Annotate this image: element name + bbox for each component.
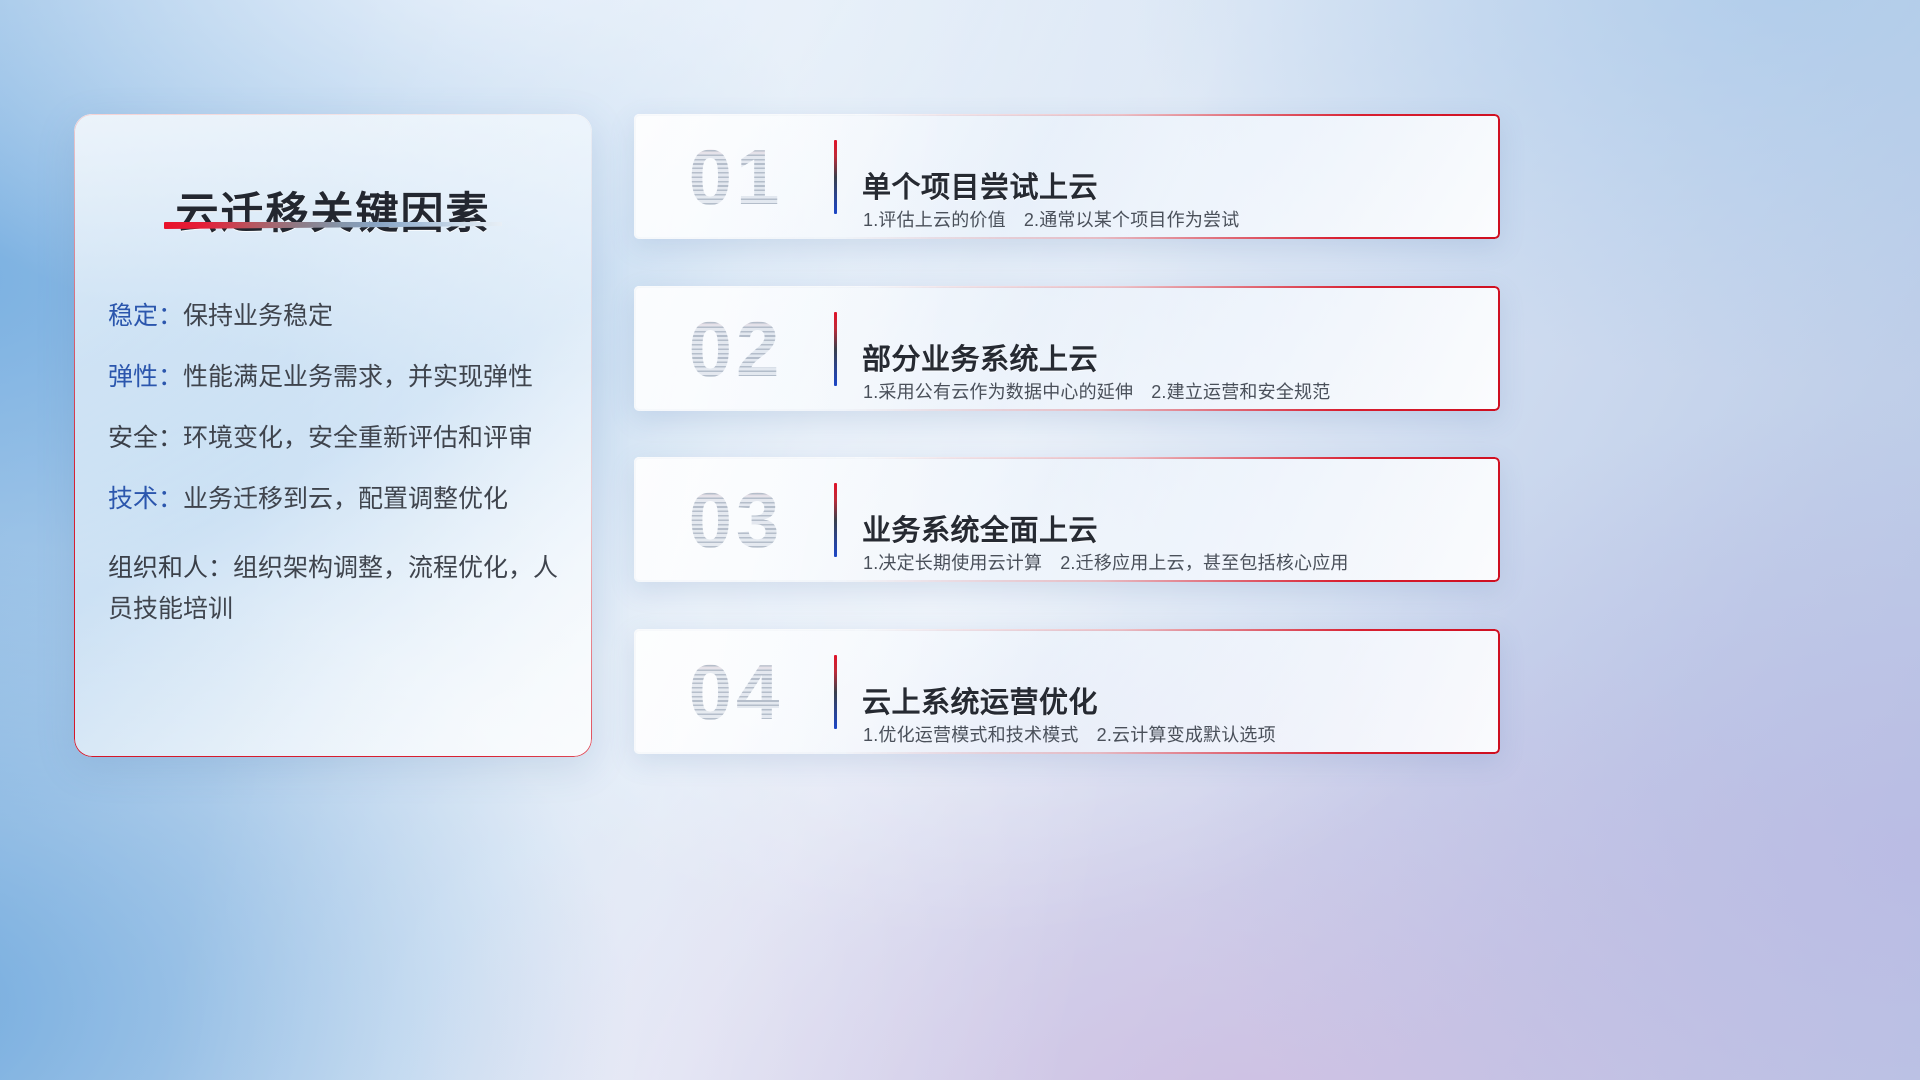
card-divider [834,312,837,386]
stage-description: 1.评估上云的价值2.通常以某个项目作为尝试 [863,206,1239,232]
factor-label: 弹性： [108,363,183,391]
stage-desc-item-2: 2.迁移应用上云，甚至包括核心应用 [1060,553,1348,573]
stage-description: 1.采用公有云作为数据中心的延伸2.建立运营和安全规范 [863,378,1330,404]
stage-description: 1.优化运营模式和技术模式2.云计算变成默认选项 [863,721,1276,747]
factor-label: 安全： [108,424,183,452]
stage-number: 01 [656,128,816,226]
card-divider [834,140,837,214]
card-divider [834,483,837,557]
stage-title: 单个项目尝试上云 [862,164,1098,206]
factor-label: 技术： [108,485,183,513]
stage-card-01[interactable]: 01 单个项目尝试上云 1.评估上云的价值2.通常以某个项目作为尝试 [634,114,1500,239]
slide-stage: 云迁移关键因素 稳定：保持业务稳定 弹性：性能满足业务需求，并实现弹性 安全：环… [0,0,1920,1080]
list-item: 组织和人：组织架构调整，流程优化，人员技能培训 [108,548,572,629]
stage-card-03[interactable]: 03 业务系统全面上云 1.决定长期使用云计算2.迁移应用上云，甚至包括核心应用 [634,457,1500,582]
stage-desc-item-1: 1.评估上云的价值 [863,210,1006,230]
stage-desc-item-1: 1.决定长期使用云计算 [863,553,1042,573]
stage-desc-item-1: 1.优化运营模式和技术模式 [863,725,1079,745]
stage-description: 1.决定长期使用云计算2.迁移应用上云，甚至包括核心应用 [863,549,1349,575]
list-item: 技术：业务迁移到云，配置调整优化 [108,487,572,512]
list-item: 弹性：性能满足业务需求，并实现弹性 [108,365,572,390]
stage-desc-item-2: 2.通常以某个项目作为尝试 [1024,210,1240,230]
stage-desc-item-1: 1.采用公有云作为数据中心的延伸 [863,382,1133,402]
stage-title: 云上系统运营优化 [862,679,1098,721]
stage-card-02[interactable]: 02 部分业务系统上云 1.采用公有云作为数据中心的延伸2.建立运营和安全规范 [634,286,1500,411]
stage-number: 04 [656,643,816,741]
stage-desc-item-2: 2.云计算变成默认选项 [1097,725,1276,745]
stage-title: 业务系统全面上云 [862,507,1098,549]
page-title: 云迁移关键因素 [74,179,592,241]
factor-value: 保持业务稳定 [183,302,333,330]
factor-label: 稳定： [108,302,183,330]
stage-desc-item-2: 2.建立运营和安全规范 [1151,382,1330,402]
stage-title: 部分业务系统上云 [862,336,1098,378]
card-divider [834,655,837,729]
factor-label: 组织和人： [108,554,233,582]
list-item: 稳定：保持业务稳定 [108,304,572,329]
stage-number: 02 [656,300,816,398]
list-item: 安全：环境变化，安全重新评估和评审 [108,426,572,451]
factor-value: 业务迁移到云，配置调整优化 [183,485,508,513]
factor-value: 性能满足业务需求，并实现弹性 [183,363,533,391]
stage-card-04[interactable]: 04 云上系统运营优化 1.优化运营模式和技术模式2.云计算变成默认选项 [634,629,1500,754]
key-factor-list: 稳定：保持业务稳定 弹性：性能满足业务需求，并实现弹性 安全：环境变化，安全重新… [108,304,572,665]
factor-value: 环境变化，安全重新评估和评审 [183,424,533,452]
key-factors-panel: 云迁移关键因素 稳定：保持业务稳定 弹性：性能满足业务需求，并实现弹性 安全：环… [74,114,592,757]
stage-number: 03 [656,471,816,569]
